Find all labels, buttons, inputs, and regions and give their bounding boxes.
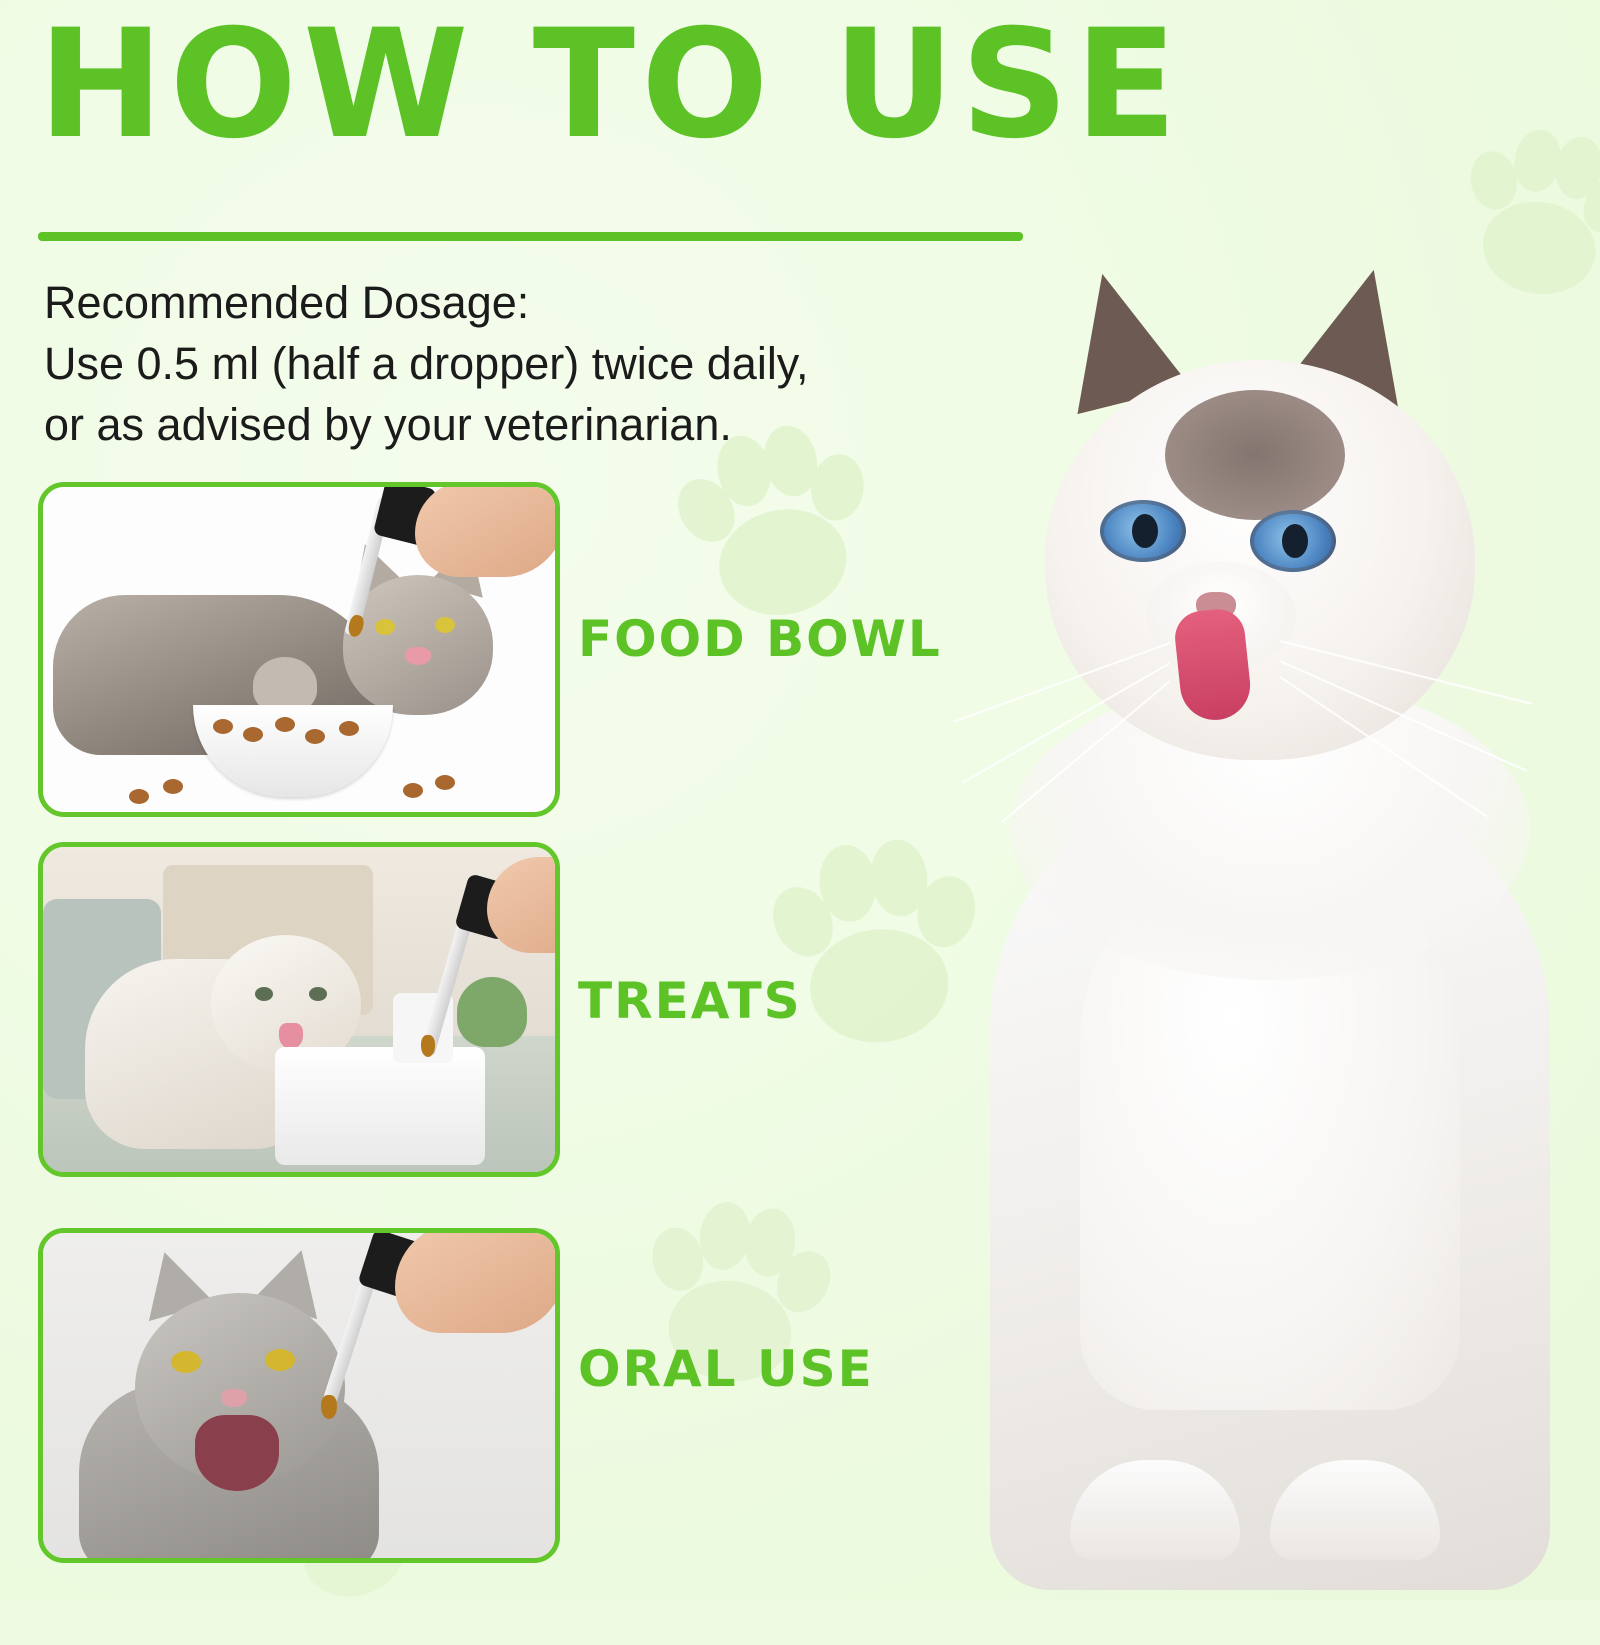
method-image-treats [38,842,560,1177]
method-label-food-bowl: FOOD BOWL [578,610,942,668]
method-label-oral-use: ORAL USE [578,1340,874,1398]
method-image-food-bowl [38,482,560,817]
title-divider [38,232,1023,241]
method-image-oral-use [38,1228,560,1563]
page-title: HOW TO USE [38,10,1458,160]
oral-use-photo [43,1233,555,1558]
dosage-line-1: Use 0.5 ml (half a dropper) twice daily, [44,333,1084,394]
page-content: HOW TO USE Recommended Dosage: Use 0.5 m… [0,0,1600,1600]
hero-cat-image [950,210,1590,1590]
method-label-treats: TREATS [578,972,802,1030]
dosage-line-2: or as advised by your veterinarian. [44,394,1084,455]
treats-photo [43,847,555,1172]
dosage-heading: Recommended Dosage: [44,272,1084,333]
food-bowl-photo [43,487,555,812]
dosage-block: Recommended Dosage: Use 0.5 ml (half a d… [44,272,1084,455]
